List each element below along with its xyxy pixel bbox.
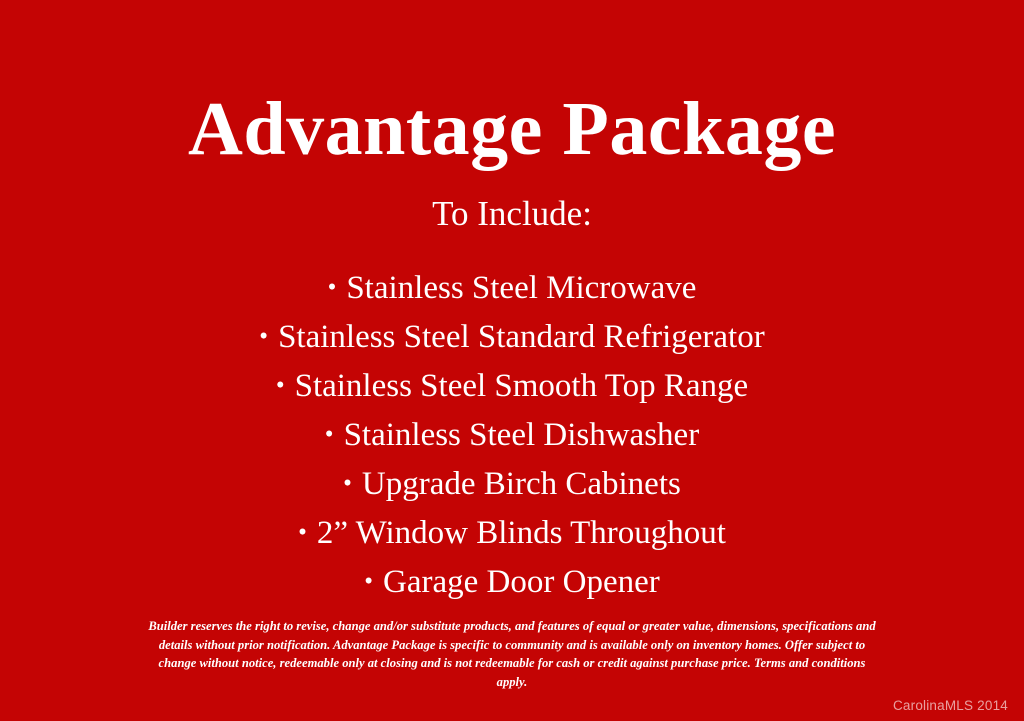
- list-item-label: Stainless Steel Smooth Top Range: [295, 362, 749, 411]
- bullet-icon: •: [328, 271, 337, 304]
- list-item-label: Stainless Steel Dishwasher: [344, 411, 700, 460]
- bullet-icon: •: [325, 418, 334, 451]
- disclaimer-line: apply.: [56, 673, 968, 692]
- disclaimer-line: details without prior notification. Adva…: [56, 636, 968, 655]
- list-item-label: 2” Window Blinds Throughout: [317, 509, 726, 558]
- watermark: CarolinaMLS 2014: [893, 697, 1008, 715]
- list-item: •Stainless Steel Standard Refrigerator: [0, 313, 1024, 362]
- page-title: Advantage Package: [0, 88, 1024, 170]
- feature-list: •Stainless Steel Microwave •Stainless St…: [0, 264, 1024, 607]
- disclaimer-line: Builder reserves the right to revise, ch…: [56, 617, 968, 636]
- bullet-icon: •: [276, 369, 285, 402]
- advantage-package-flyer: Advantage Package To Include: •Stainless…: [0, 0, 1024, 721]
- list-item: •Stainless Steel Dishwasher: [0, 411, 1024, 460]
- list-item: •2” Window Blinds Throughout: [0, 509, 1024, 558]
- list-item: •Stainless Steel Smooth Top Range: [0, 362, 1024, 411]
- list-item: •Stainless Steel Microwave: [0, 264, 1024, 313]
- list-item-label: Stainless Steel Microwave: [346, 264, 696, 313]
- bullet-icon: •: [364, 565, 373, 598]
- disclaimer: Builder reserves the right to revise, ch…: [56, 617, 968, 691]
- list-item: •Garage Door Opener: [0, 558, 1024, 607]
- subtitle: To Include:: [0, 194, 1024, 234]
- bullet-icon: •: [298, 516, 307, 549]
- bullet-icon: •: [259, 320, 268, 353]
- list-item-label: Garage Door Opener: [383, 558, 660, 607]
- list-item: •Upgrade Birch Cabinets: [0, 460, 1024, 509]
- disclaimer-line: change without notice, redeemable only a…: [56, 654, 968, 673]
- list-item-label: Stainless Steel Standard Refrigerator: [278, 313, 765, 362]
- bullet-icon: •: [343, 467, 352, 500]
- list-item-label: Upgrade Birch Cabinets: [362, 460, 681, 509]
